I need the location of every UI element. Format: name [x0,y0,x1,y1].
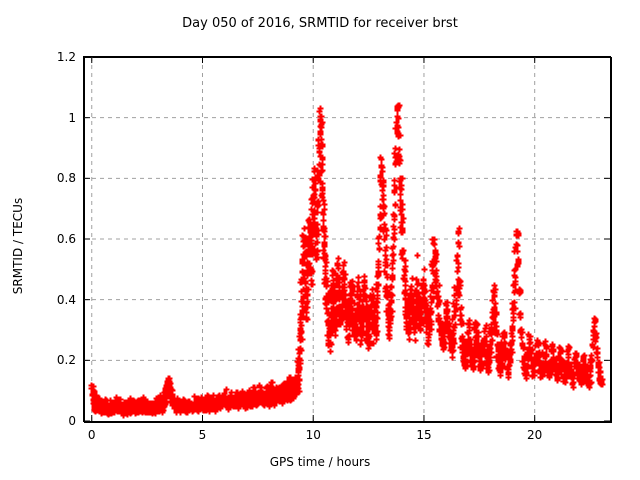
y-axis-label: SRMTID / TECUs [11,186,25,306]
y-tick-label: 0.2 [6,353,76,367]
x-tick-label: 5 [172,428,232,442]
x-tick-label: 15 [394,428,454,442]
x-tick-label: 0 [62,428,122,442]
y-tick-label: 1.2 [6,50,76,64]
y-tick-label: 0 [6,414,76,428]
y-tick-label: 1 [6,111,76,125]
x-axis-label: GPS time / hours [0,455,640,469]
y-tick-label: 0.8 [6,171,76,185]
x-tick-label: 10 [283,428,343,442]
data-points-series-0 [88,102,605,418]
x-tick-label: 20 [505,428,565,442]
plot-page: Day 050 of 2016, SRMTID for receiver brs… [0,0,640,480]
plot-canvas [0,0,640,480]
